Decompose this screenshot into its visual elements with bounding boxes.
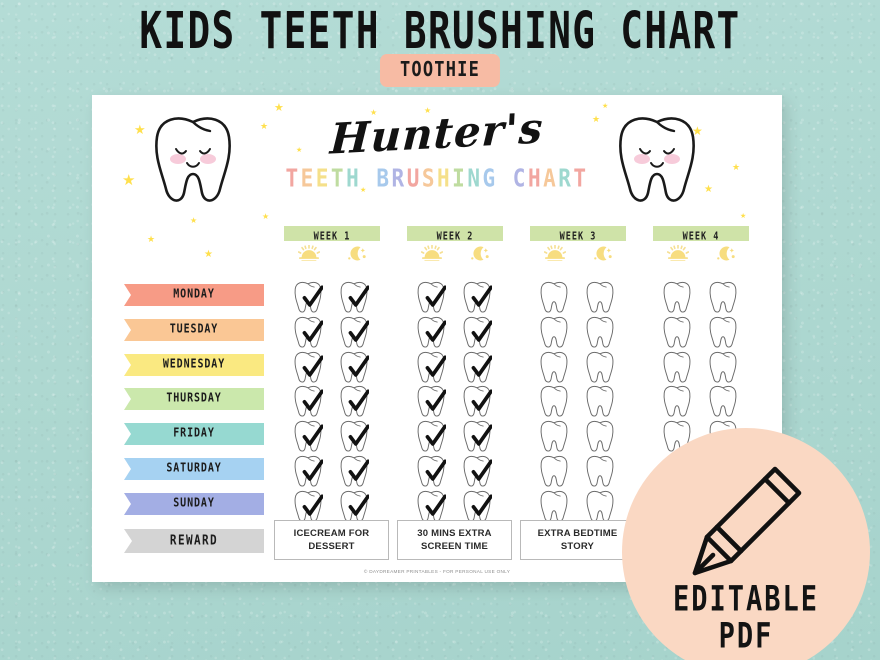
sun-icon [298, 245, 320, 266]
tooth-checkbox[interactable] [293, 280, 323, 319]
moon-icon [715, 245, 737, 267]
brand-badge: TOOTHIE [380, 54, 500, 87]
pencil-icon [683, 459, 809, 582]
tooth-checkbox[interactable] [462, 280, 492, 319]
sun-icon [544, 245, 566, 266]
tooth-checkbox[interactable] [339, 315, 369, 354]
tooth-checkbox[interactable] [462, 315, 492, 354]
tooth-checkbox[interactable] [416, 315, 446, 354]
tooth-checkbox[interactable] [708, 280, 738, 319]
badge-line-1: EDITABLE [673, 582, 819, 619]
day-label: SATURDAY [124, 456, 264, 483]
tooth-checkbox[interactable] [293, 315, 323, 354]
page-title: KIDS TEETH BRUSHING CHART [26, 2, 853, 61]
tooth-checkbox[interactable] [293, 419, 323, 458]
tooth-checkbox[interactable] [585, 384, 615, 423]
moon-icon [346, 245, 368, 267]
tooth-checkbox[interactable] [708, 315, 738, 354]
tooth-checkbox[interactable] [585, 315, 615, 354]
day-ribbon-sunday: SUNDAY [124, 493, 264, 515]
tooth-checkbox[interactable] [293, 454, 323, 493]
sun-icon [421, 245, 443, 266]
tooth-checkbox[interactable] [539, 384, 569, 423]
tooth-checkbox[interactable] [339, 384, 369, 423]
tooth-checkbox[interactable] [339, 454, 369, 493]
tooth-checkbox[interactable] [416, 419, 446, 458]
sun-icon [667, 245, 689, 266]
badge-line-2: PDF [719, 618, 774, 655]
tooth-checkbox[interactable] [339, 419, 369, 458]
day-label: THURSDAY [124, 386, 264, 413]
reward-ribbon: REWARD [124, 529, 264, 553]
day-label: TUESDAY [124, 317, 264, 344]
day-ribbon-thursday: THURSDAY [124, 388, 264, 410]
day-ribbon-friday: FRIDAY [124, 423, 264, 445]
reward-input-3[interactable]: EXTRA BEDTIME STORY [520, 520, 635, 560]
tooth-checkbox[interactable] [585, 454, 615, 493]
day-ribbon-monday: MONDAY [124, 284, 264, 306]
tooth-checkbox[interactable] [462, 454, 492, 493]
tooth-checkbox[interactable] [339, 280, 369, 319]
tooth-checkbox[interactable] [539, 419, 569, 458]
moon-icon [592, 245, 614, 267]
reward-text: 30 MINS EXTRA SCREEN TIME [402, 527, 507, 553]
tooth-checkbox[interactable] [585, 280, 615, 319]
reward-label: REWARD [124, 526, 264, 555]
tooth-checkbox[interactable] [416, 454, 446, 493]
day-label: FRIDAY [124, 421, 264, 448]
tooth-checkbox[interactable] [708, 384, 738, 423]
tooth-checkbox[interactable] [293, 384, 323, 423]
reward-text: EXTRA BEDTIME STORY [525, 527, 630, 553]
day-ribbon-saturday: SATURDAY [124, 458, 264, 480]
tooth-checkbox[interactable] [462, 419, 492, 458]
moon-icon [469, 245, 491, 267]
reward-input-2[interactable]: 30 MINS EXTRA SCREEN TIME [397, 520, 512, 560]
day-label: WEDNESDAY [124, 352, 264, 379]
tooth-checkbox[interactable] [539, 280, 569, 319]
tooth-checkbox[interactable] [585, 419, 615, 458]
tooth-checkbox[interactable] [662, 280, 692, 319]
editable-pdf-badge: EDITABLE PDF [622, 428, 870, 660]
tooth-checkbox[interactable] [662, 384, 692, 423]
brand-badge-label: TOOTHIE [400, 58, 480, 82]
day-label: SUNDAY [124, 491, 264, 518]
tooth-checkbox[interactable] [539, 315, 569, 354]
day-ribbon-tuesday: TUESDAY [124, 319, 264, 341]
reward-input-1[interactable]: ICECREAM FOR DESSERT [274, 520, 389, 560]
reward-text: ICECREAM FOR DESSERT [279, 527, 384, 553]
tooth-checkbox[interactable] [462, 384, 492, 423]
tooth-checkbox[interactable] [416, 384, 446, 423]
tooth-checkbox[interactable] [416, 280, 446, 319]
tooth-checkbox[interactable] [662, 315, 692, 354]
day-ribbon-wednesday: WEDNESDAY [124, 354, 264, 376]
day-label: MONDAY [124, 282, 264, 309]
tooth-checkbox[interactable] [539, 454, 569, 493]
